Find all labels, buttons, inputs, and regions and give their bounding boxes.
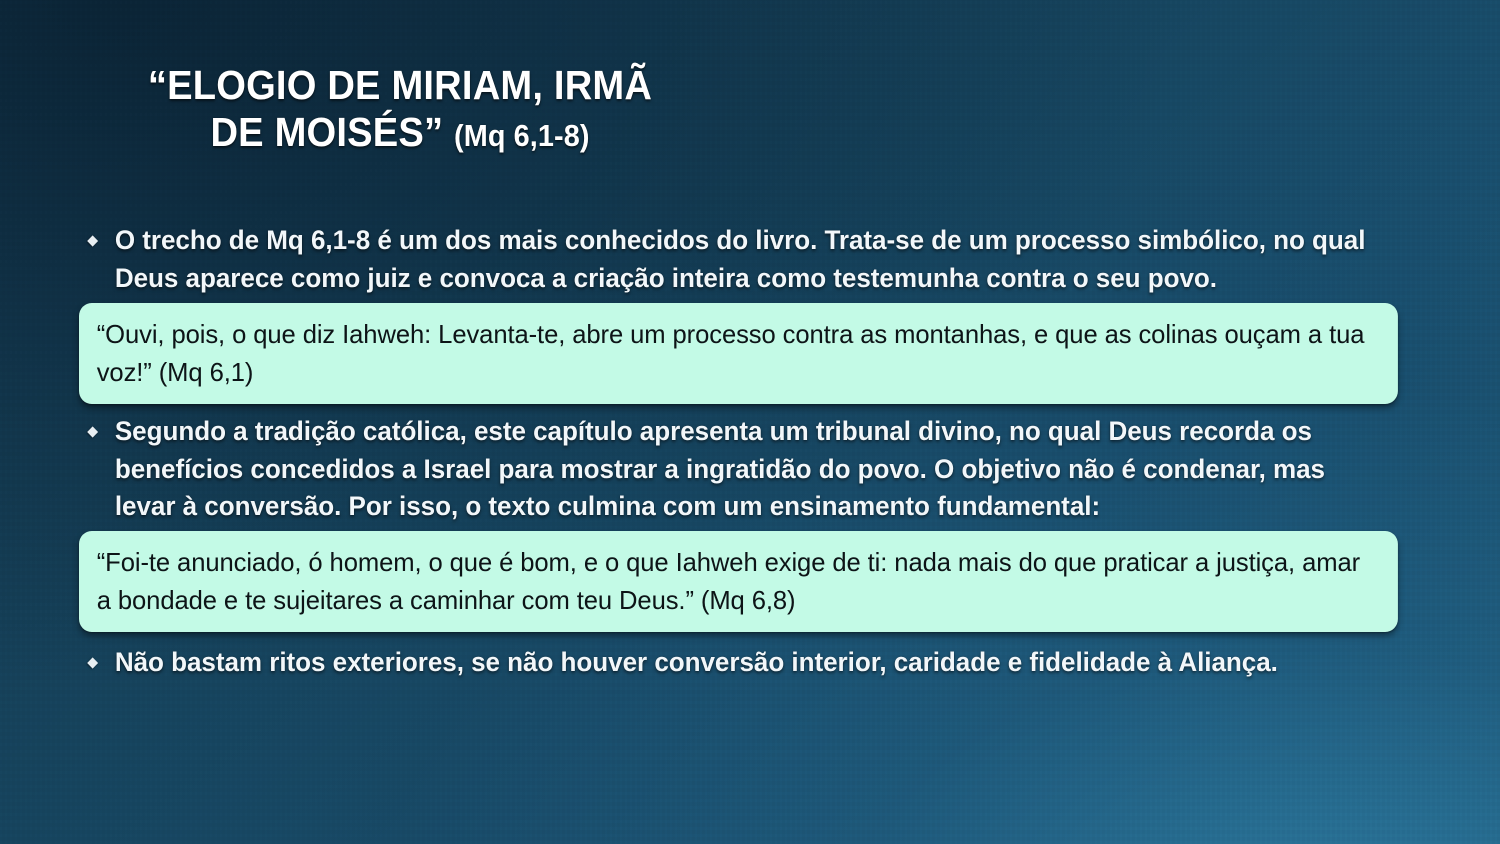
scripture-quote-box-2-text: “Foi-te anunciado, ó homem, o que é bom,… (97, 547, 1360, 615)
bullet-item-1-text: O trecho de Mq 6,1-8 é um dos mais conhe… (115, 225, 1366, 293)
diamond-bullet-icon (87, 426, 98, 437)
slide-title-line-1: “ELOGIO DE MIRIAM, IRMÃ (28, 62, 772, 109)
scripture-quote-box-1-text: “Ouvi, pois, o que diz Iahweh: Levanta-t… (97, 319, 1365, 387)
bullet-item-2-text: Segundo a tradição católica, este capítu… (115, 416, 1325, 521)
slide-title: “ELOGIO DE MIRIAM, IRMÃ DE MOISÉS” (Mq 6… (0, 62, 800, 159)
scripture-quote-box-1: “Ouvi, pois, o que diz Iahweh: Levanta-t… (79, 303, 1398, 404)
bullet-item-1: O trecho de Mq 6,1-8 é um dos mais conhe… (0, 222, 1448, 297)
presentation-slide: “ELOGIO DE MIRIAM, IRMÃ DE MOISÉS” (Mq 6… (0, 0, 1500, 844)
diamond-bullet-icon (87, 657, 98, 668)
bullet-item-3: Não bastam ritos exteriores, se não houv… (0, 644, 1448, 682)
slide-title-line-2: DE MOISÉS” (Mq 6,1-8) (28, 109, 772, 159)
slide-title-main: DE MOISÉS” (210, 109, 443, 155)
bullet-item-3-text: Não bastam ritos exteriores, se não houv… (115, 647, 1278, 677)
bullet-item-2: Segundo a tradição católica, este capítu… (0, 413, 1448, 526)
slide-body: O trecho de Mq 6,1-8 é um dos mais conhe… (0, 222, 1500, 681)
scripture-quote-box-2: “Foi-te anunciado, ó homem, o que é bom,… (79, 531, 1398, 632)
diamond-bullet-icon (87, 235, 98, 246)
slide-title-reference: (Mq 6,1-8) (454, 118, 589, 153)
